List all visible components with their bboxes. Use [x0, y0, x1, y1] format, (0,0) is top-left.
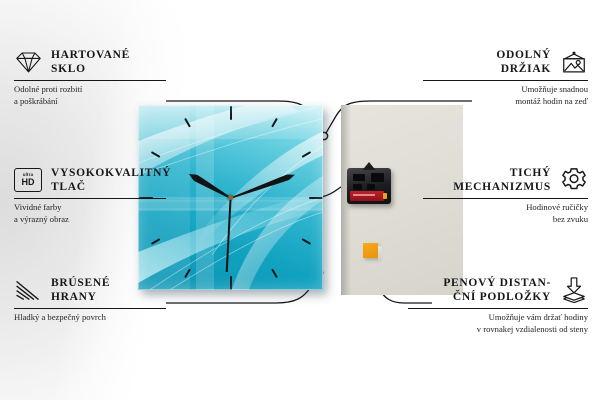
feature-sub-line1: Hodinové ručičky [526, 202, 588, 212]
feature-title-line1: VYSOKOKVALITNÝ [51, 167, 171, 179]
feature-tempered-glass: HARTOVANÉ SKLO Odolné proti rozbití a po… [14, 48, 166, 107]
feature-title-line2: MECHANIZMUS [453, 181, 551, 193]
ultra-hd-icon-main: HD [22, 178, 35, 187]
battery [350, 191, 384, 201]
feature-sub-line2: a výrazný obraz [14, 214, 69, 224]
feature-sub-line1: Odolné proti rozbití [14, 84, 82, 94]
foam-spacer-pad [363, 243, 378, 258]
feature-hd-print: ultra HD VYSOKOKVALITNÝ TLAČ Vividné far… [14, 166, 166, 225]
feature-sub-line2: a poškrábání [14, 96, 58, 106]
feature-sub-line1: Umožňuje snadnou [521, 84, 588, 94]
feature-title-line2: DRŽIAK [501, 63, 551, 75]
feature-polished-edges: BRÚSENÉ HRANY Hladký a bezpečný povrch [14, 276, 166, 324]
feature-silent-mechanism: TICHÝ MECHANIZMUS Hodinové ručičky bez z… [423, 166, 588, 225]
feature-sub-line2: montáž hodin na zeď [515, 96, 588, 106]
feature-sub-line2: v rovnakej vzdialenosti od steny [477, 324, 588, 334]
divider [14, 308, 166, 309]
feature-sub-line1: Hladký a bezpečný povrch [14, 312, 106, 322]
product-infographic: HARTOVANÉ SKLO Odolné proti rozbití a po… [0, 0, 600, 400]
clock-mechanism [347, 168, 391, 204]
feature-sub-line1: Vividné farby [14, 202, 61, 212]
feature-title-line1: TICHÝ [510, 167, 551, 179]
divider [14, 198, 166, 199]
divider [408, 308, 588, 309]
feature-title-line2: TLAČ [51, 181, 86, 193]
divider [423, 80, 588, 81]
diamond-icon [14, 49, 42, 75]
feature-sub-line2: bez zvuku [553, 214, 588, 224]
feature-title-line2: ČNÍ PODLOŽKY [453, 291, 551, 303]
feature-durable-holder: ODOLNÝ DRŽIAK Umožňuje snadnou montáž ho… [423, 48, 588, 107]
feature-title-line2: SKLO [51, 63, 86, 75]
divider [14, 80, 166, 81]
feature-title-line1: ODOLNÝ [496, 49, 551, 61]
feature-title-line1: BRÚSENÉ [51, 277, 110, 289]
ultra-hd-icon: ultra HD [14, 167, 42, 193]
feature-sub-line1: Umožňuje vám držať hodiny [489, 312, 588, 322]
product-photo [138, 105, 463, 295]
feature-foam-spacers: PENOVÝ DISTAN- ČNÍ PODLOŽKY Umožňuje vám… [408, 276, 588, 335]
wall-hanging-picture-icon [560, 49, 588, 75]
feature-title-line2: HRANY [51, 291, 97, 303]
gear-icon [560, 167, 588, 193]
feature-title-line1: PENOVÝ DISTAN- [443, 277, 551, 289]
divider [423, 198, 588, 199]
brushed-edge-icon [14, 277, 42, 303]
press-down-layers-icon [560, 277, 588, 303]
feature-title-line1: HARTOVANÉ [51, 49, 130, 61]
